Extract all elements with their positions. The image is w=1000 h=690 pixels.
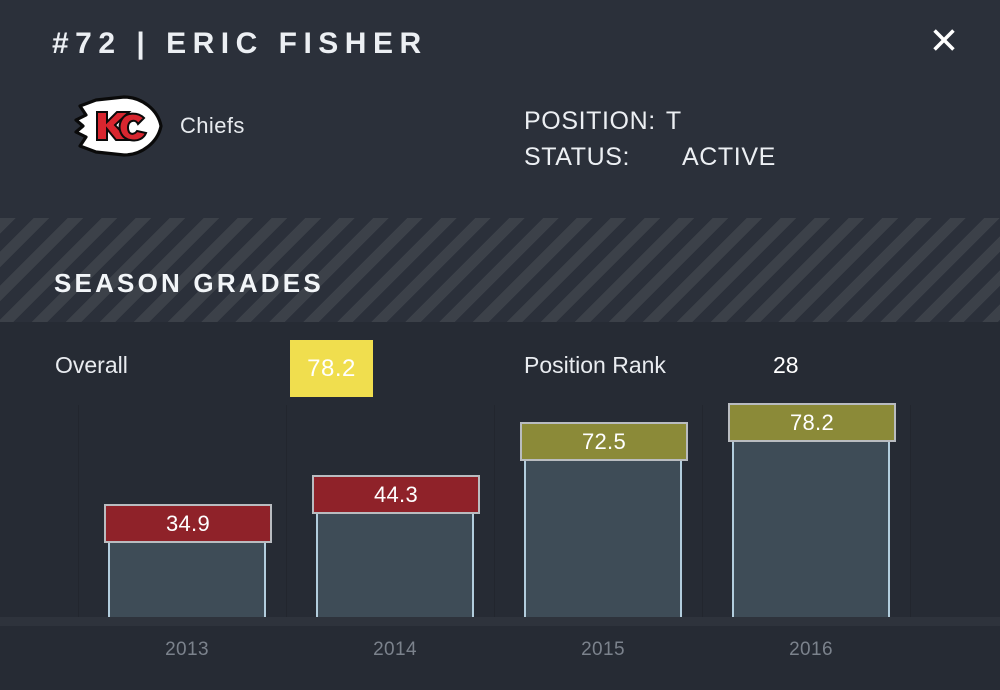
bar-value-chip: 44.3 xyxy=(312,475,480,514)
gridline xyxy=(78,405,79,617)
bar-value-label: 72.5 xyxy=(582,429,626,455)
position-line: POSITION: T xyxy=(524,103,776,139)
bar-body xyxy=(108,541,266,617)
season-grades-chart: 34.9201344.3201472.5201578.22016 xyxy=(0,405,1000,690)
team-row: Chiefs xyxy=(66,92,245,160)
bar-value-label: 34.9 xyxy=(166,511,210,537)
chart-baseline xyxy=(0,617,1000,626)
bar-year-label: 2016 xyxy=(732,639,890,661)
overall-grade-badge: 78.2 xyxy=(290,340,373,397)
player-meta: POSITION: T STATUS: ACTIVE xyxy=(524,103,776,175)
bar-body xyxy=(524,459,682,617)
gridline xyxy=(702,405,703,617)
bar-body xyxy=(732,440,890,617)
bar-year-label: 2014 xyxy=(316,639,474,661)
page-title: #72 | ERIC FISHER xyxy=(52,27,428,61)
bar-group[interactable]: 72.52015 xyxy=(524,459,682,617)
status-label: STATUS: xyxy=(524,139,682,175)
chiefs-arrowhead-logo xyxy=(66,92,164,160)
bar-value-chip: 72.5 xyxy=(520,422,688,461)
position-rank-value: 28 xyxy=(773,352,799,379)
bar-group[interactable]: 44.32014 xyxy=(316,512,474,617)
bar-year-label: 2013 xyxy=(108,639,266,661)
bar-group[interactable]: 78.22016 xyxy=(732,440,890,617)
bar-value-chip: 34.9 xyxy=(104,504,272,543)
bar-value-label: 44.3 xyxy=(374,482,418,508)
season-grades-banner: SEASON GRADES xyxy=(0,218,1000,322)
position-label: POSITION: xyxy=(524,103,656,139)
bar-value-label: 78.2 xyxy=(790,410,834,436)
status-line: STATUS: ACTIVE xyxy=(524,139,776,175)
gridline xyxy=(286,405,287,617)
bar-body xyxy=(316,512,474,617)
overall-label: Overall xyxy=(55,352,128,379)
section-title: SEASON GRADES xyxy=(54,268,324,299)
summary-inner: Overall Position Rank 28 xyxy=(0,322,1000,406)
position-value: T xyxy=(666,103,682,139)
close-button[interactable] xyxy=(926,22,962,58)
bar-group[interactable]: 34.92013 xyxy=(108,541,266,617)
close-icon xyxy=(931,27,957,53)
gridline xyxy=(494,405,495,617)
card-header: #72 | ERIC FISHER Chiefs xyxy=(0,0,1000,218)
bar-value-chip: 78.2 xyxy=(728,403,896,442)
position-rank-label: Position Rank xyxy=(524,352,666,379)
overall-grade-value: 78.2 xyxy=(307,355,356,383)
status-badge: ACTIVE xyxy=(682,139,776,175)
bar-year-label: 2015 xyxy=(524,639,682,661)
team-name: Chiefs xyxy=(180,113,245,139)
player-card: #72 | ERIC FISHER Chiefs xyxy=(0,0,1000,690)
gridline xyxy=(910,405,911,617)
